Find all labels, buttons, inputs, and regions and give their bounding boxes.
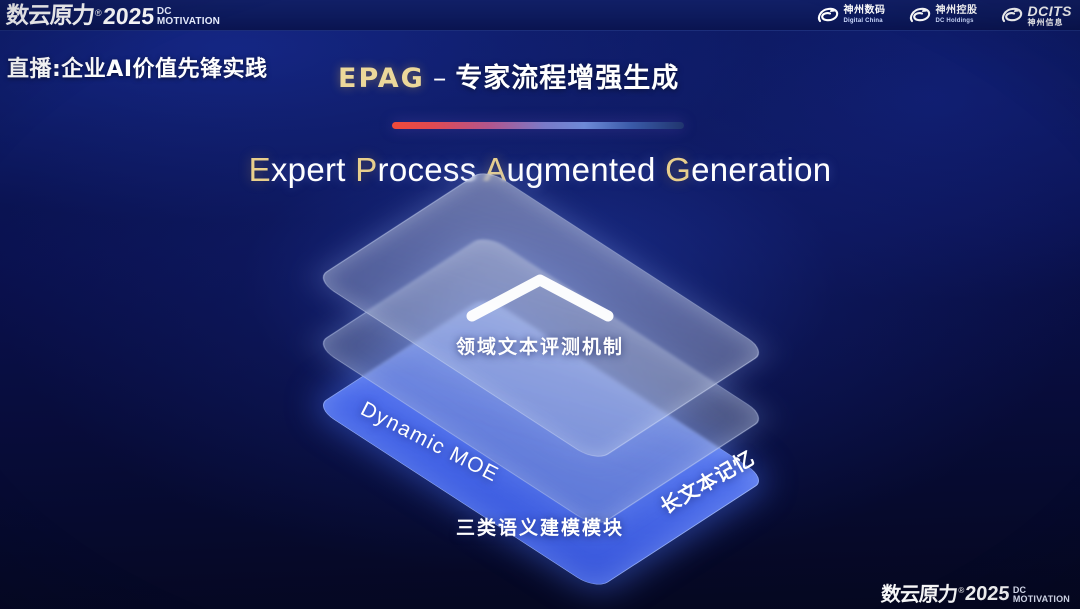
watermark-year: 2025 <box>965 584 1011 605</box>
partner-name-en-big: DCITS <box>1028 4 1073 18</box>
watermark-motivation-label: MOTIVATION <box>1013 595 1070 604</box>
partner-text-digital-china: 神州数码 Digital China <box>844 6 886 24</box>
page-headline: Expert Process Augmented Generation <box>0 151 1080 189</box>
brand-year: 2025 <box>102 4 155 28</box>
partner-name-cn: 神州数码 <box>844 6 886 16</box>
partner-name-en: DC Holdings <box>936 18 978 24</box>
partner-logo-group: 神州数码 Digital China 神州控股 DC Holdings <box>816 3 1073 27</box>
slide-canvas: 数云原力 ® 2025 DC MOTIVATION 神州数码 Digital C… <box>0 0 1080 609</box>
partner-text-dc-holdings: 神州控股 DC Holdings <box>936 6 978 24</box>
header-bar: 数云原力 ® 2025 DC MOTIVATION 神州数码 Digital C… <box>0 0 1080 31</box>
diagram-label-top: 领域文本评测机制 <box>456 332 624 359</box>
diagram-label-bottom: 三类语义建模模块 <box>456 513 624 540</box>
partner-name-en: Digital China <box>844 18 886 24</box>
slide-title: EPAG–专家流程增强生成 <box>338 56 679 95</box>
accent-divider <box>392 122 684 129</box>
brand-dc-motivation: DC MOTIVATION <box>157 7 220 27</box>
watermark-dc-motivation: DC MOTIVATION <box>1013 586 1070 604</box>
partner-name-cn: 神州控股 <box>936 6 978 16</box>
brand-registered-mark: ® <box>95 8 102 18</box>
brand-motivation-label: MOTIVATION <box>157 17 220 27</box>
swoosh-icon <box>908 6 932 25</box>
swoosh-icon <box>1000 6 1024 25</box>
partner-logo-dcits: DCITS 神州信息 <box>1000 4 1073 27</box>
live-subtitle: 直播:企业AI价值先锋实践 <box>7 51 268 83</box>
headline-rest-augmented: ugmented <box>507 151 666 188</box>
brand-logo: 数云原力 ® 2025 DC MOTIVATION <box>6 2 220 28</box>
partner-logo-dc-holdings: 神州控股 DC Holdings <box>908 6 978 25</box>
slide-title-abbr: EPAG <box>338 63 425 94</box>
headline-rest-expert: xpert <box>271 151 355 188</box>
watermark-registered-mark: ® <box>958 586 964 596</box>
partner-name-cn-sub: 神州信息 <box>1028 19 1073 27</box>
chevron-up-icon <box>460 268 620 328</box>
swoosh-icon <box>816 6 840 25</box>
isometric-layer-diagram: 领域文本评测机制 Dynamic MOE 长文本记忆 三类语义建模模块 <box>288 228 792 578</box>
brand-name-cn: 数云原力 <box>5 4 95 28</box>
partner-text-dcits: DCITS 神州信息 <box>1028 4 1073 27</box>
headline-cap-e: E <box>249 151 271 188</box>
headline-cap-g: G <box>665 151 691 188</box>
slide-title-dash: – <box>433 63 448 94</box>
watermark-name-cn: 数云原力 <box>881 584 958 605</box>
partner-logo-digital-china: 神州数码 Digital China <box>816 6 886 25</box>
slide-title-cn: 专家流程增强生成 <box>455 63 679 94</box>
watermark-logo: 数云原力 ® 2025 DC MOTIVATION <box>881 581 1070 605</box>
headline-rest-generation: eneration <box>691 151 831 188</box>
headline-cap-p: P <box>355 151 377 188</box>
